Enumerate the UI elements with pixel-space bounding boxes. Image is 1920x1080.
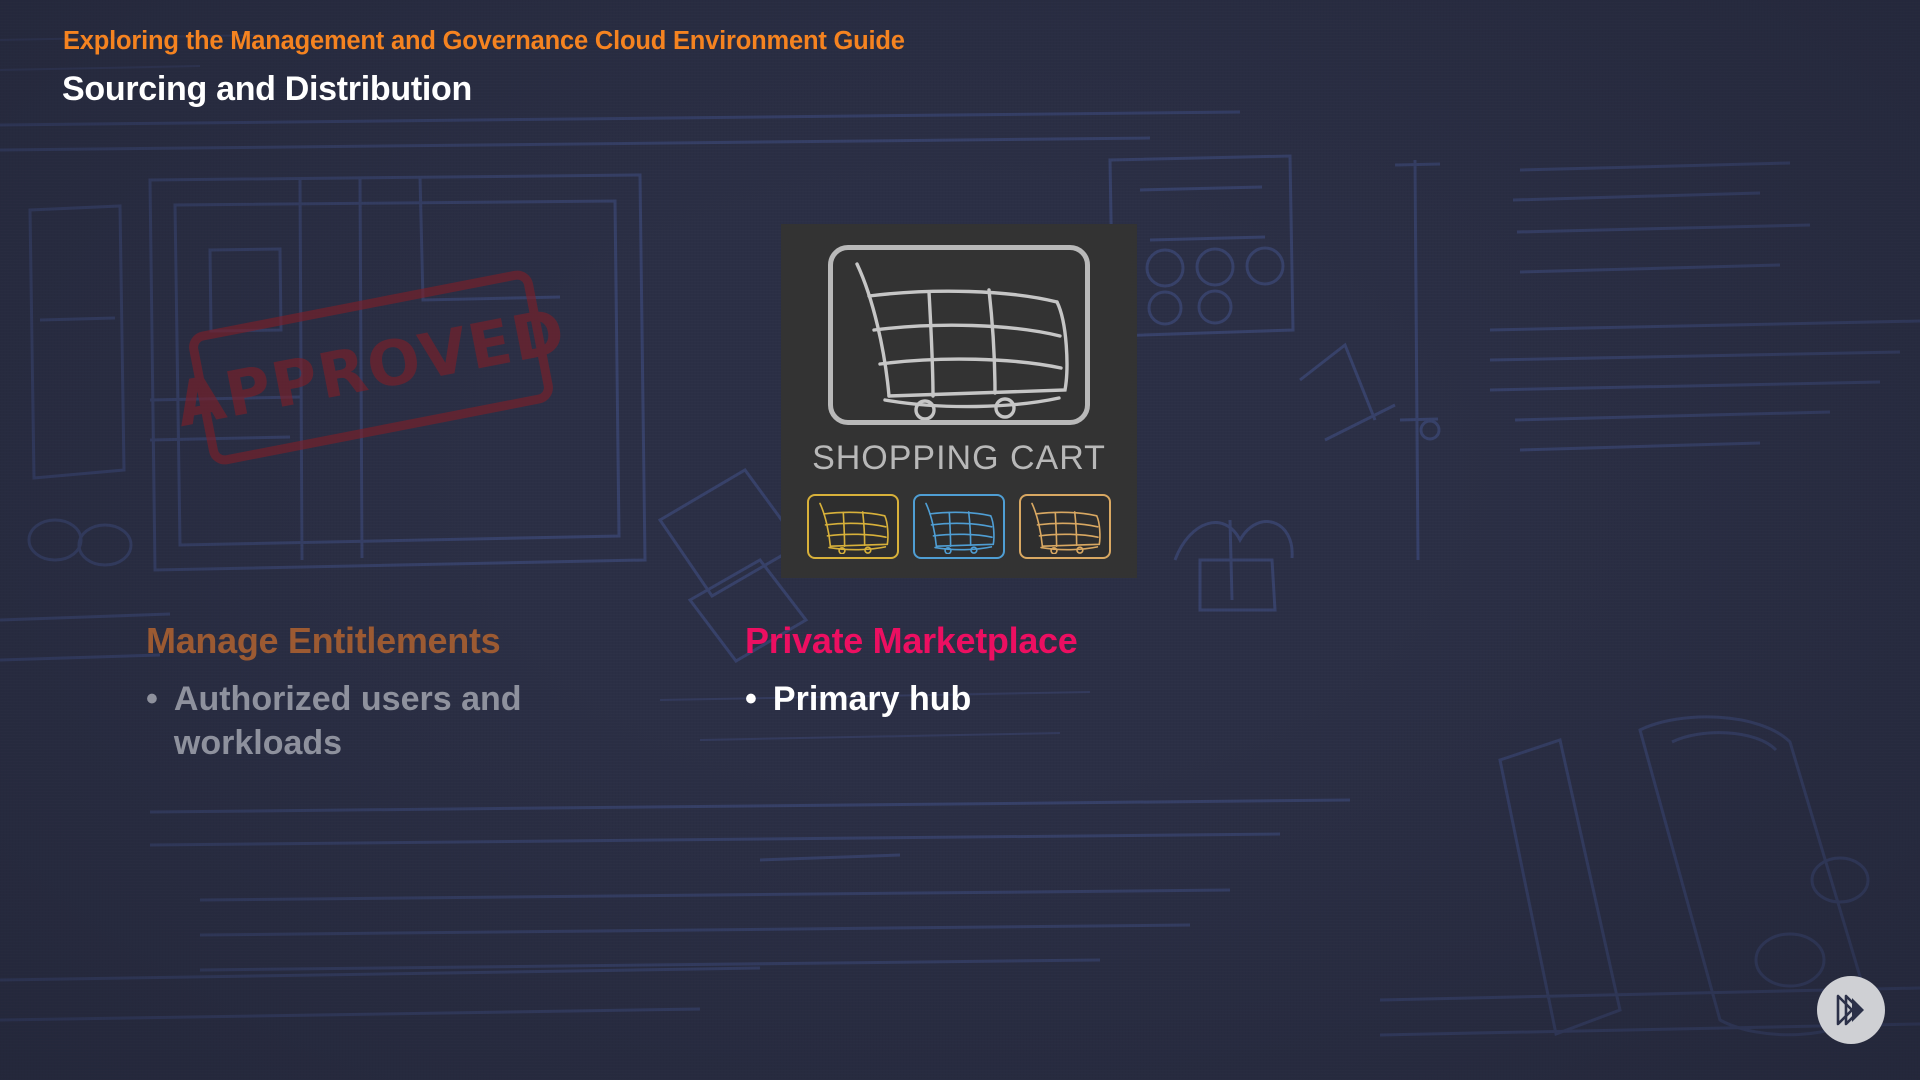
shopping-cart-card: SHOPPING CART	[781, 224, 1137, 578]
column-manage-entitlements: Manage Entitlements • Authorized users a…	[146, 620, 626, 765]
bullet-marker: •	[146, 678, 158, 722]
bullet-text: Authorized users and workloads	[174, 678, 626, 765]
column-private-marketplace: Private Marketplace • Primary hub	[745, 620, 1215, 722]
list-item: • Authorized users and workloads	[146, 678, 626, 765]
shopping-cart-caption: SHOPPING CART	[812, 439, 1106, 478]
shopping-cart-icon	[828, 245, 1090, 425]
page-title: Sourcing and Distribution	[62, 70, 472, 109]
slide-eyebrow: Exploring the Management and Governance …	[63, 27, 905, 56]
bullet-text: Primary hub	[773, 678, 971, 722]
cart-thumbnail-tan[interactable]	[1019, 494, 1111, 559]
slide-canvas: APPROVED Exploring the Management and Go…	[0, 0, 1920, 1080]
bullet-marker: •	[745, 678, 757, 722]
cart-thumbnail-blue[interactable]	[913, 494, 1005, 559]
column-heading: Manage Entitlements	[146, 620, 626, 662]
cart-thumbnail-row	[807, 494, 1111, 559]
column-heading: Private Marketplace	[745, 620, 1215, 662]
list-item: • Primary hub	[745, 678, 1215, 722]
cart-thumbnail-yellow[interactable]	[807, 494, 899, 559]
double-play-arrow-icon[interactable]	[1817, 976, 1885, 1044]
